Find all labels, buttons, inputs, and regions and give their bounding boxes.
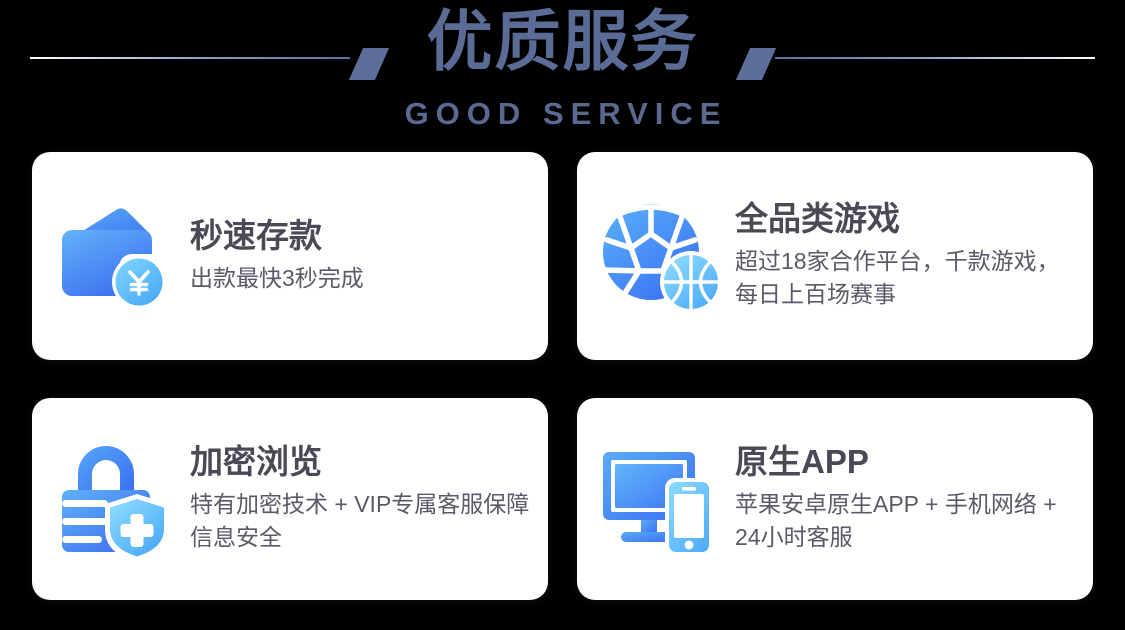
feature-card-instant-deposit[interactable]: 秒速存款 出款最快3秒完成 (32, 152, 548, 360)
card-description: 超过18家合作平台，千款游戏，每日上百场赛事 (735, 245, 1079, 310)
card-text-block: 秒速存款 出款最快3秒完成 (190, 218, 548, 295)
feature-card-native-app[interactable]: 原生APP 苹果安卓原生APP + 手机网络 + 24小时客服 (577, 398, 1093, 600)
lock-shield-icon (40, 438, 190, 560)
soccer-basketball-icon (585, 198, 735, 314)
card-title: 加密浏览 (190, 444, 534, 481)
card-title: 原生APP (735, 444, 1079, 481)
card-description: 苹果安卓原生APP + 手机网络 + 24小时客服 (735, 488, 1079, 553)
card-description: 出款最快3秒完成 (190, 262, 534, 295)
feature-card-grid: 秒速存款 出款最快3秒完成 (32, 152, 1093, 600)
page-subtitle: GOOD SERVICE (0, 98, 1125, 129)
feature-card-all-games[interactable]: 全品类游戏 超过18家合作平台，千款游戏，每日上百场赛事 (577, 152, 1093, 360)
card-description: 特有加密技术 + VIP专属客服保障信息安全 (190, 488, 534, 553)
card-text-block: 全品类游戏 超过18家合作平台，千款游戏，每日上百场赛事 (735, 201, 1093, 310)
card-title: 全品类游戏 (735, 201, 1079, 238)
monitor-phone-icon (585, 442, 735, 556)
card-title: 秒速存款 (190, 218, 534, 255)
wallet-yen-icon (40, 200, 190, 312)
card-text-block: 加密浏览 特有加密技术 + VIP专属客服保障信息安全 (190, 444, 548, 553)
card-text-block: 原生APP 苹果安卓原生APP + 手机网络 + 24小时客服 (735, 444, 1093, 553)
feature-card-encrypted-browsing[interactable]: 加密浏览 特有加密技术 + VIP专属客服保障信息安全 (32, 398, 548, 600)
page-title: 优质服务 (0, 8, 1125, 74)
page-header: 优质服务 GOOD SERVICE (0, 0, 1125, 145)
